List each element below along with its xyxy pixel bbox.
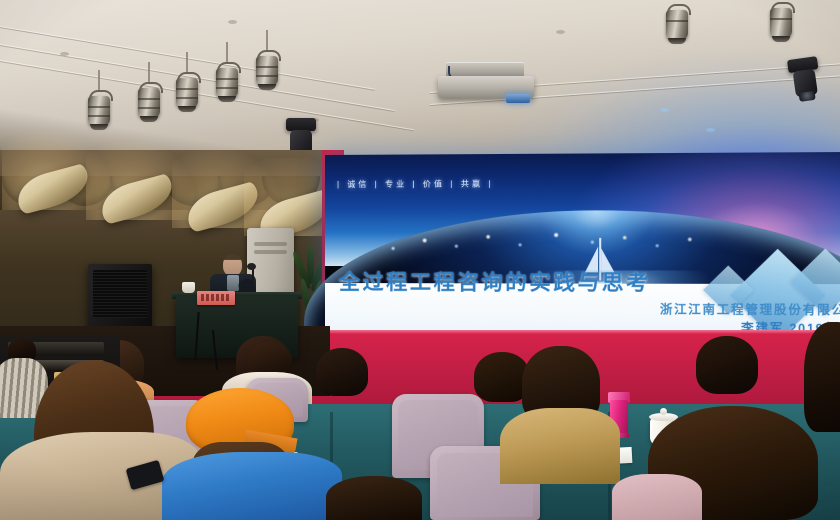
ceiling-spotlight bbox=[664, 2, 690, 42]
ceiling-recessed-light bbox=[660, 108, 669, 112]
spotlight-stem bbox=[266, 30, 268, 52]
spotlight-body bbox=[666, 10, 688, 40]
ceiling-spotlight bbox=[214, 60, 240, 100]
ac-vent bbox=[254, 242, 287, 246]
moving-light-lens bbox=[799, 91, 816, 102]
ceiling-spotlight bbox=[174, 70, 200, 110]
ceiling-projector bbox=[438, 62, 534, 106]
audience-member bbox=[316, 348, 368, 406]
audience-hair bbox=[316, 348, 368, 396]
audience-hair bbox=[696, 336, 758, 394]
microphone-head bbox=[247, 263, 256, 270]
spotlight-body bbox=[138, 88, 160, 118]
spotlight-body bbox=[176, 78, 198, 108]
spotlight-body bbox=[88, 96, 110, 126]
audience-member-right-edge bbox=[804, 322, 840, 432]
speaker-grille bbox=[93, 270, 147, 318]
spotlight-ring bbox=[256, 75, 278, 77]
spotlight-stem bbox=[148, 62, 150, 84]
ceiling-spotlight bbox=[768, 0, 794, 40]
spotlight-stem bbox=[226, 42, 228, 64]
ceiling-spotlight bbox=[136, 80, 162, 120]
spotlight-ring bbox=[138, 107, 160, 109]
audience-member-blue-jacket bbox=[162, 452, 342, 520]
audience-member-center-bottom bbox=[326, 476, 422, 520]
blue-jacket bbox=[162, 452, 342, 520]
audience-member-tan-sweater bbox=[500, 346, 620, 484]
slide-organization: 浙江江南工程管理股份有限公司 bbox=[660, 300, 840, 318]
spotlight-ring bbox=[176, 97, 198, 99]
tan-sweater bbox=[500, 408, 620, 484]
presenter-head bbox=[223, 254, 242, 276]
spotlight-ring bbox=[176, 88, 198, 90]
spotlight-body bbox=[770, 8, 792, 38]
spotlight-ring bbox=[256, 66, 278, 68]
spotlight-body bbox=[216, 68, 238, 98]
audience-hair bbox=[326, 476, 422, 520]
audience-member bbox=[696, 336, 758, 406]
slide-city-lights bbox=[346, 221, 748, 267]
spotlight-ring bbox=[88, 106, 110, 108]
spotlight-ring bbox=[666, 20, 688, 22]
audience-hair bbox=[804, 322, 840, 432]
spotlight-ring bbox=[138, 98, 160, 100]
spotlight-body bbox=[256, 56, 278, 86]
wall-sconce bbox=[16, 166, 94, 214]
slide-title: 全过程工程咨询的实践与思考 bbox=[339, 266, 650, 297]
ceiling-recessed-light bbox=[228, 20, 237, 24]
led-screen: | 诚信 | 专业 | 价值 | 共赢 | 全过程工程咨询的实践与思考 浙江江南… bbox=[325, 152, 840, 343]
slide-tagline: | 诚信 | 专业 | 价值 | 共赢 | bbox=[337, 178, 494, 190]
ceiling-spotlight bbox=[254, 48, 280, 88]
spotlight-stem bbox=[186, 52, 188, 74]
spotlight-ring bbox=[88, 115, 110, 117]
ceiling-recessed-light bbox=[60, 52, 69, 56]
spotlight-ring bbox=[770, 18, 792, 20]
podium-teacup bbox=[182, 282, 195, 293]
spotlight-ring bbox=[216, 87, 238, 89]
conference-photo: | 诚信 | 专业 | 价值 | 共赢 | 全过程工程咨询的实践与思考 浙江江南… bbox=[0, 0, 840, 520]
projector-lens bbox=[506, 94, 530, 103]
spotlight-stem bbox=[98, 70, 100, 92]
moving-head-light bbox=[787, 56, 823, 106]
nameplate-text bbox=[201, 294, 231, 301]
pink-top bbox=[612, 474, 702, 520]
spotlight-ring bbox=[216, 78, 238, 80]
presenter-shirt bbox=[227, 275, 239, 291]
ceiling-spotlight bbox=[86, 88, 112, 128]
podium-nameplate bbox=[197, 291, 235, 305]
ceiling-recessed-light bbox=[556, 30, 565, 34]
audience-member-pink-top bbox=[612, 474, 702, 520]
wall-sconce bbox=[100, 176, 178, 224]
ac-vent bbox=[254, 250, 287, 254]
